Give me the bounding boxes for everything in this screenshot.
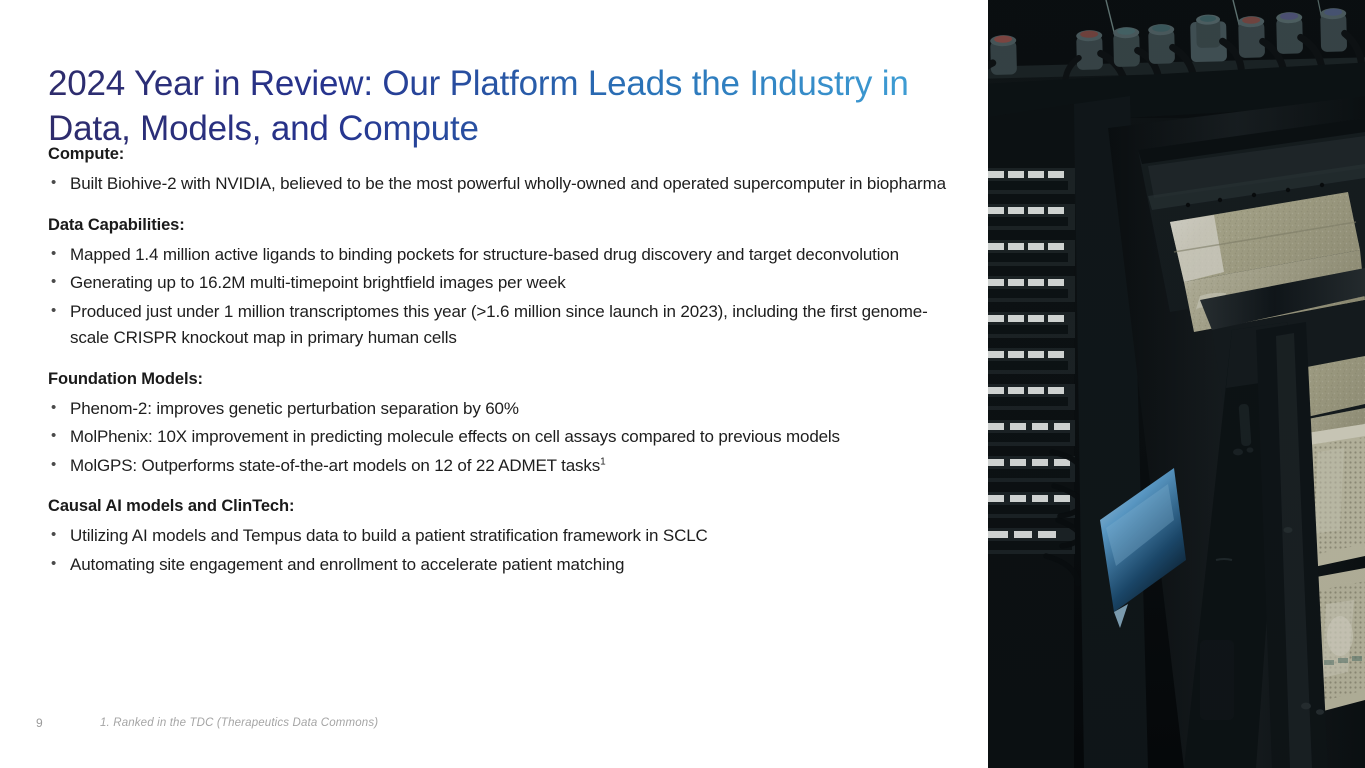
datacenter-photo — [988, 0, 1365, 768]
section-heading-compute: Compute: — [48, 143, 953, 165]
bullet-list-foundation-models: Phenom-2: improves genetic perturbation … — [48, 396, 953, 480]
footnote-text: 1. Ranked in the TDC (Therapeutics Data … — [100, 714, 378, 732]
list-item: MolPhenix: 10X improvement in predicting… — [48, 424, 953, 451]
list-item-with-footnote: MolGPS: Outperforms state-of-the-art mod… — [48, 453, 953, 480]
list-item: Built Biohive-2 with NVIDIA, believed to… — [48, 171, 953, 198]
list-item: Generating up to 16.2M multi-timepoint b… — [48, 270, 953, 297]
section-foundation-models: Foundation Models: Phenom-2: improves ge… — [48, 368, 953, 480]
datacenter-photo-illustration — [988, 0, 1365, 768]
section-compute: Compute: Built Biohive-2 with NVIDIA, be… — [48, 143, 953, 198]
list-item: Phenom-2: improves genetic perturbation … — [48, 396, 953, 423]
body-content: Compute: Built Biohive-2 with NVIDIA, be… — [48, 143, 953, 582]
section-heading-foundation-models: Foundation Models: — [48, 368, 953, 390]
page-number: 9 — [36, 714, 43, 732]
bullet-list-data-capabilities: Mapped 1.4 million active ligands to bin… — [48, 242, 953, 352]
slide-content-area: 2024 Year in Review: Our Platform Leads … — [0, 0, 988, 768]
slide-footer: 9 1. Ranked in the TDC (Therapeutics Dat… — [0, 714, 988, 732]
section-data-capabilities: Data Capabilities: Mapped 1.4 million ac… — [48, 214, 953, 352]
list-item: Produced just under 1 million transcript… — [48, 299, 953, 352]
section-heading-data-capabilities: Data Capabilities: — [48, 214, 953, 236]
bullet-list-causal-ai: Utilizing AI models and Tempus data to b… — [48, 523, 953, 578]
section-causal-ai: Causal AI models and ClinTech: Utilizing… — [48, 495, 953, 578]
list-item-text: MolGPS: Outperforms state-of-the-art mod… — [70, 456, 600, 475]
list-item: Utilizing AI models and Tempus data to b… — [48, 523, 953, 550]
page-title: 2024 Year in Review: Our Platform Leads … — [48, 61, 928, 151]
slide: 2024 Year in Review: Our Platform Leads … — [0, 0, 1365, 768]
bullet-list-compute: Built Biohive-2 with NVIDIA, believed to… — [48, 171, 953, 198]
footnote-marker: 1 — [600, 456, 605, 467]
list-item: Automating site engagement and enrollmen… — [48, 552, 953, 579]
section-heading-causal-ai: Causal AI models and ClinTech: — [48, 495, 953, 517]
list-item: Mapped 1.4 million active ligands to bin… — [48, 242, 953, 269]
